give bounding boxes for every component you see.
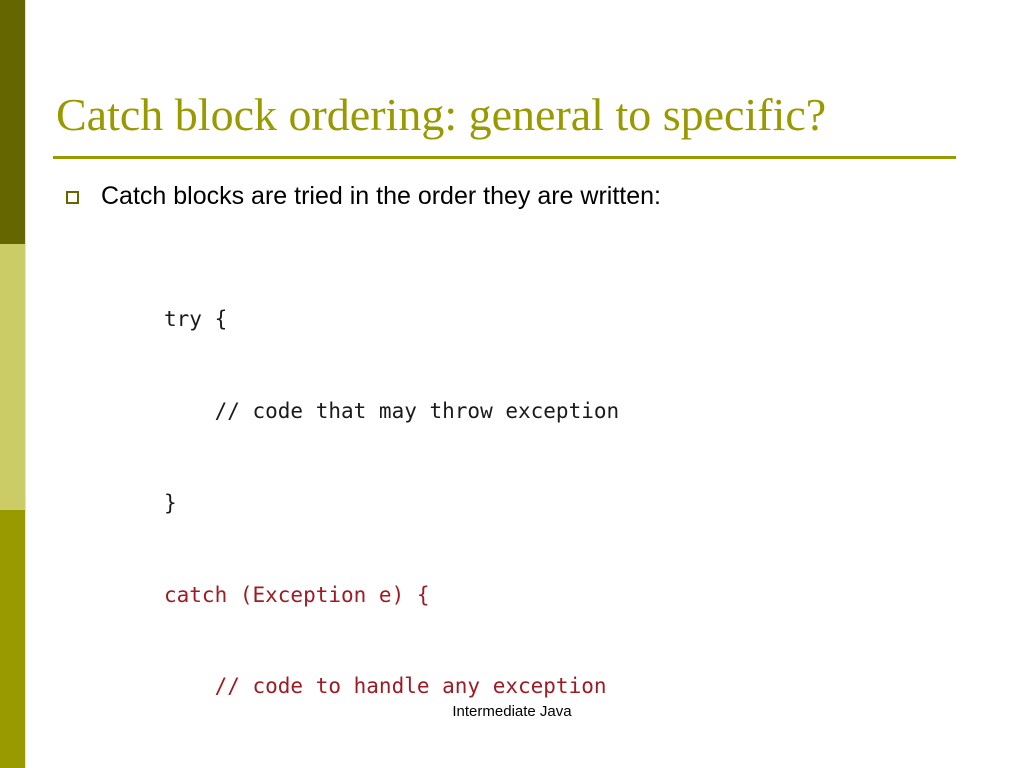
code-line: try {: [164, 304, 809, 335]
bullet-item: Catch blocks are tried in the order they…: [66, 180, 661, 212]
code-line: }: [164, 763, 809, 768]
decorative-sidebar: [0, 0, 26, 768]
sidebar-edge-line: [25, 0, 26, 768]
sidebar-band-middle: [0, 244, 26, 510]
slide-canvas: Catch block ordering: general to specifi…: [0, 0, 1024, 768]
bullet-item-label: Catch blocks are tried in the order they…: [101, 180, 661, 212]
sidebar-band-top: [0, 0, 26, 244]
code-block: try { // code that may throw exception }…: [164, 243, 809, 768]
slide-title: Catch block ordering: general to specifi…: [56, 88, 976, 142]
code-line: catch (Exception e) {: [164, 580, 809, 611]
code-line: }: [164, 488, 809, 519]
title-underline-rule: [53, 156, 956, 159]
code-line: // code to handle any exception: [164, 671, 809, 702]
code-line: // code that may throw exception: [164, 396, 809, 427]
slide-footer: Intermediate Java: [0, 703, 1024, 720]
square-bullet-icon: [66, 191, 79, 204]
sidebar-band-bottom: [0, 510, 26, 768]
